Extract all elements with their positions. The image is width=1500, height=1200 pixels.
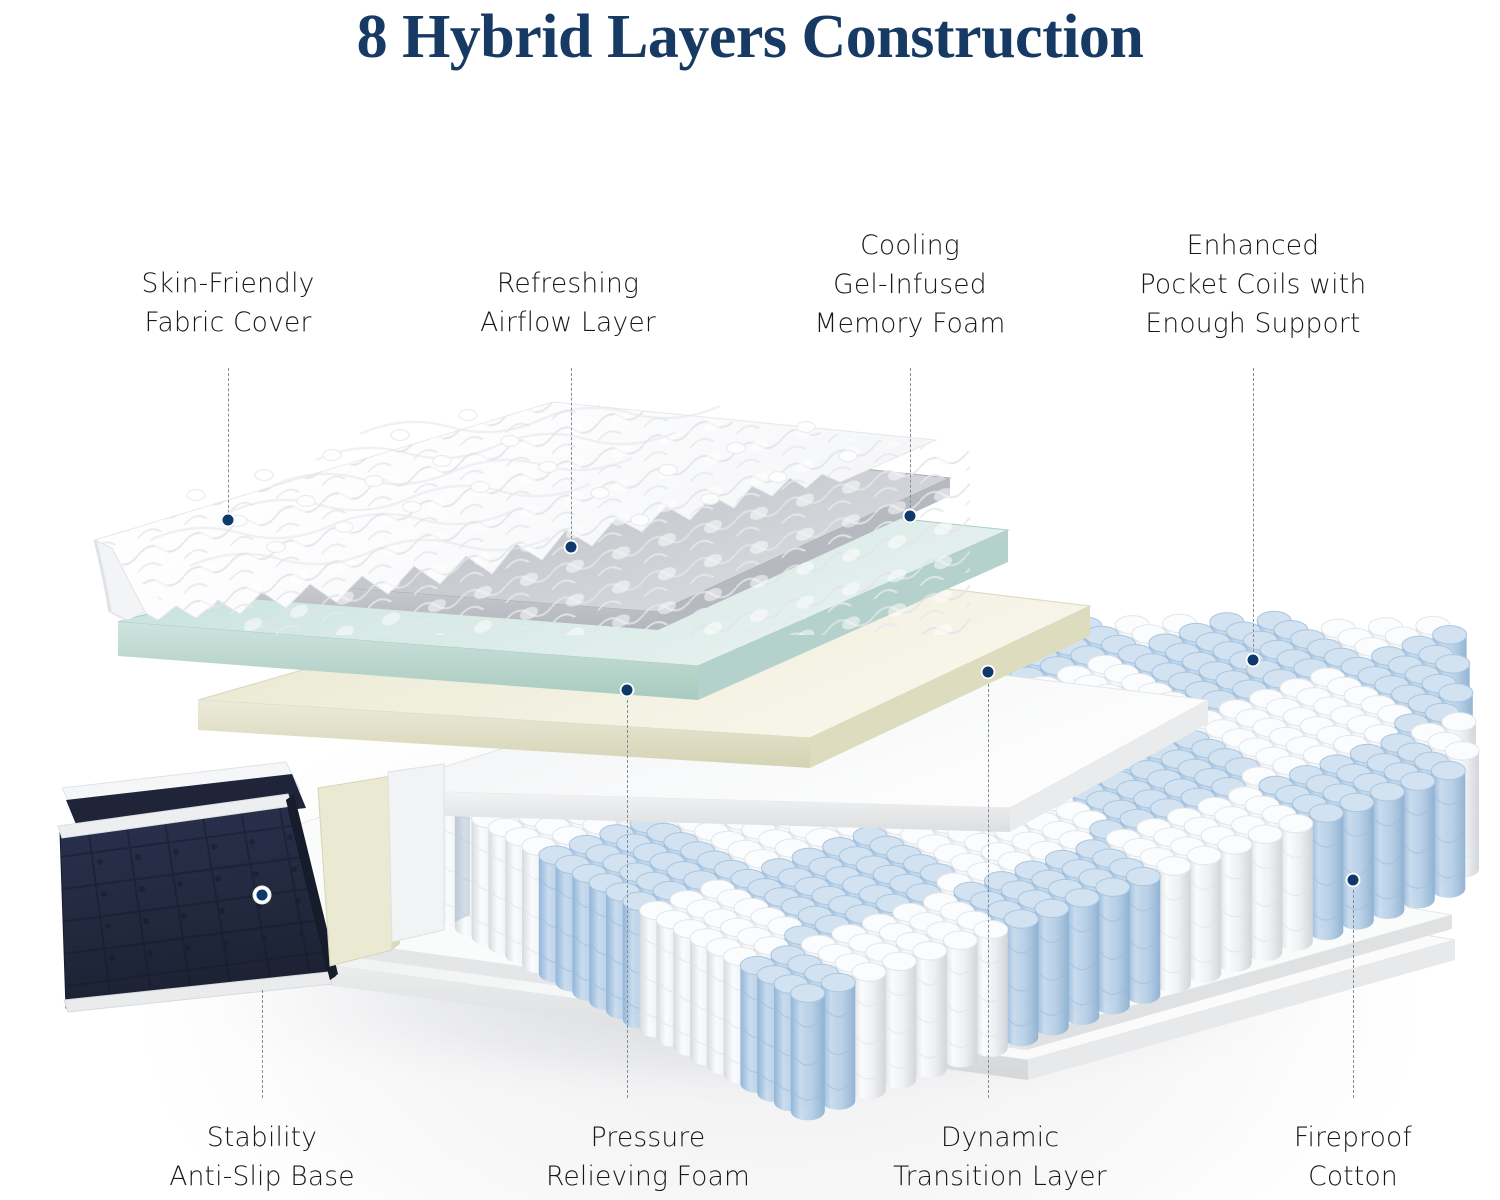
- pocket-coil: [943, 931, 977, 1067]
- pocket-coil: [1370, 783, 1404, 919]
- pocket-coil: [1340, 793, 1374, 929]
- callout-dot-transition[interactable]: [981, 665, 996, 680]
- leader-line-anti-slip-base: [262, 990, 263, 1098]
- leader-line-transition: [988, 684, 989, 1098]
- label-dynamic-transition-layer: Dynamic Transition Layer: [893, 1118, 1107, 1196]
- pocket-coil: [1187, 846, 1221, 982]
- pocket-coil: [1157, 857, 1191, 993]
- callout-dot-airflow[interactable]: [564, 540, 579, 555]
- callout-dot-fabric-cover[interactable]: [221, 513, 236, 528]
- pocket-coil: [1218, 836, 1252, 972]
- leader-line-fabric-cover: [228, 368, 229, 518]
- leader-line-pocket-coils: [1253, 368, 1254, 657]
- pocket-coil: [1248, 825, 1282, 961]
- label-pressure-relieving-foam: Pressure Relieving Foam: [546, 1118, 750, 1196]
- pocket-coil: [1035, 899, 1069, 1035]
- pocket-coil: [1065, 889, 1099, 1025]
- leader-line-airflow: [571, 368, 572, 544]
- label-enhanced-pocket-coils: Enhanced Pocket Coils with Enough Suppor…: [1140, 226, 1367, 343]
- pocket-coil: [852, 963, 886, 1099]
- mattress-svg: {}: [0, 0, 1500, 1200]
- mattress-exploded-illustration: {}: [0, 0, 1500, 1200]
- label-fireproof-cotton-bottom: Fireproof Cotton Bottom: [1280, 1118, 1427, 1200]
- infographic-canvas: 8 Hybrid Layers Construction: [0, 0, 1500, 1200]
- label-cooling-gel-infused-memory-foam: Cooling Gel-Infused Memory Foam: [815, 226, 1006, 343]
- pocket-coil: [1279, 814, 1313, 950]
- pocket-coil: [1431, 761, 1465, 897]
- label-stability-anti-slip-base: Stability Anti-Slip Base: [169, 1118, 355, 1196]
- pocket-coil: [1309, 804, 1343, 940]
- pocket-coil: [791, 984, 825, 1120]
- callout-dot-pressure-foam[interactable]: [620, 683, 635, 698]
- pocket-coil: [882, 952, 916, 1088]
- pocket-coil: [1096, 878, 1130, 1014]
- leader-line-pressure-foam: [627, 700, 628, 1098]
- pocket-coil: [974, 920, 1008, 1056]
- pocket-coil: [913, 942, 947, 1078]
- label-refreshing-airflow-layer: Refreshing Airflow Layer: [480, 264, 656, 342]
- label-skin-friendly-fabric-cover: Skin-Friendly Fabric Cover: [141, 264, 314, 342]
- callout-dot-gel-foam[interactable]: [903, 509, 918, 524]
- pocket-coil: [821, 973, 855, 1109]
- callout-dot-anti-slip-base[interactable]: [254, 887, 271, 904]
- pocket-coil: [1401, 772, 1435, 908]
- callout-dot-pocket-coils[interactable]: [1246, 653, 1261, 668]
- pocket-coil: [1126, 867, 1160, 1003]
- callout-dot-cotton-bottom[interactable]: [1346, 873, 1361, 888]
- pocket-coil: [1004, 910, 1038, 1046]
- leader-line-gel-foam: [910, 368, 911, 513]
- leader-line-cotton-bottom: [1353, 890, 1354, 1098]
